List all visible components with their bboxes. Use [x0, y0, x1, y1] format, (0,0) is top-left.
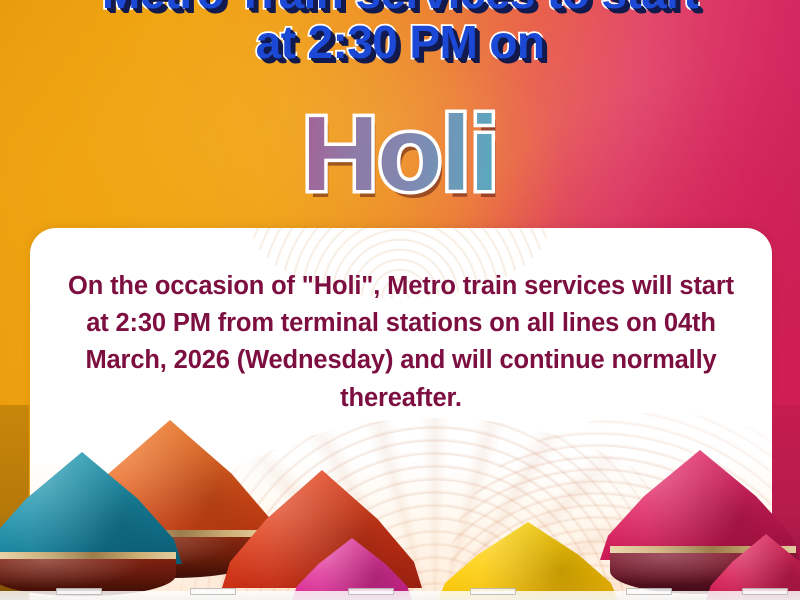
bottom-strip-tab — [742, 588, 788, 595]
headline-line-1: Metro Train services to start — [0, 0, 800, 16]
bottom-strip-tab — [470, 588, 516, 595]
festival-title-block: Holi Holi Holi — [0, 92, 800, 222]
holi-announcement-poster: Metro Train services to start at 2:30 PM… — [0, 0, 800, 600]
bottom-strip-tab — [626, 588, 672, 595]
bottom-strip-tab — [348, 588, 394, 595]
bottom-strip-tab — [56, 588, 102, 595]
holi-powder-scene — [0, 405, 800, 600]
headline-text: Metro Train services to start at 2:30 PM… — [0, 0, 800, 65]
announcement-body-text: On the occasion of "Holi", Metro train s… — [54, 268, 748, 417]
festival-title-text: Holi — [0, 92, 800, 217]
headline-line-2: at 2:30 PM on — [0, 20, 800, 66]
bottom-strip-tab — [190, 588, 236, 595]
bottom-edge-strip — [0, 591, 800, 600]
headline-block: Metro Train services to start at 2:30 PM… — [0, 0, 800, 65]
